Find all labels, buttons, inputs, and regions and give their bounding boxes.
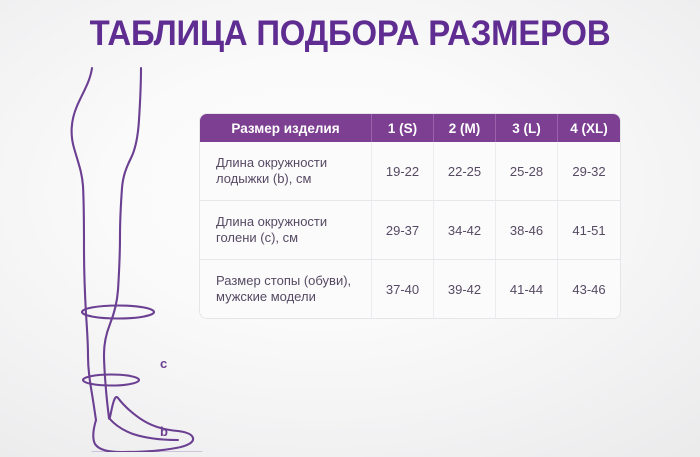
calf-label: c	[160, 357, 167, 370]
table-row: Размер стопы (обуви), мужские модели 37-…	[200, 259, 620, 318]
size-table-container: Размер изделия 1 (S) 2 (M) 3 (L) 4 (XL) …	[200, 114, 620, 318]
table-row: Длина окружности лодыжки (b), см 19-22 2…	[200, 142, 620, 200]
table-body: Длина окружности лодыжки (b), см 19-22 2…	[200, 142, 620, 318]
cell-calf-size-4: 41-51	[558, 200, 620, 259]
row-label-shoe-size: Размер стопы (обуви), мужские модели	[200, 259, 372, 318]
cell-ankle-size-2: 22-25	[434, 142, 496, 200]
size-table: Размер изделия 1 (S) 2 (M) 3 (L) 4 (XL) …	[200, 114, 620, 318]
column-header-size-2: 2 (M)	[434, 114, 496, 142]
column-header-size-3: 3 (L)	[496, 114, 558, 142]
leg-back-contour	[72, 68, 96, 420]
cell-calf-size-3: 38-46	[496, 200, 558, 259]
page-title: ТАБЛИЦА ПОДБОРА РАЗМЕРОВ	[21, 14, 679, 54]
column-header-size-1: 1 (S)	[372, 114, 434, 142]
row-label-calf-circumference: Длина окружности голени (c), см	[200, 200, 372, 259]
cell-ankle-size-1: 19-22	[372, 142, 434, 200]
table-header: Размер изделия 1 (S) 2 (M) 3 (L) 4 (XL)	[200, 114, 620, 142]
size-chart-page: ТАБЛИЦА ПОДБОРА РАЗМЕРОВ c b	[0, 0, 700, 457]
cell-ankle-size-4: 29-32	[558, 142, 620, 200]
cell-shoe-size-2: 39-42	[434, 259, 496, 318]
ankle-measure-ellipse	[83, 375, 139, 386]
row-label-ankle-circumference: Длина окружности лодыжки (b), см	[200, 142, 372, 200]
cell-calf-size-2: 34-42	[434, 200, 496, 259]
cell-ankle-size-3: 25-28	[496, 142, 558, 200]
cell-calf-size-1: 29-37	[372, 200, 434, 259]
cell-shoe-size-1: 37-40	[372, 259, 434, 318]
column-header-product-size: Размер изделия	[200, 114, 372, 142]
column-header-size-4: 4 (XL)	[558, 114, 620, 142]
ankle-label: b	[160, 425, 168, 438]
table-row: Длина окружности голени (c), см 29-37 34…	[200, 200, 620, 259]
leg-front-contour	[104, 68, 141, 418]
table-header-row: Размер изделия 1 (S) 2 (M) 3 (L) 4 (XL)	[200, 114, 620, 142]
calf-measure-ellipse	[82, 306, 154, 319]
cell-shoe-size-3: 41-44	[496, 259, 558, 318]
cell-shoe-size-4: 43-46	[558, 259, 620, 318]
